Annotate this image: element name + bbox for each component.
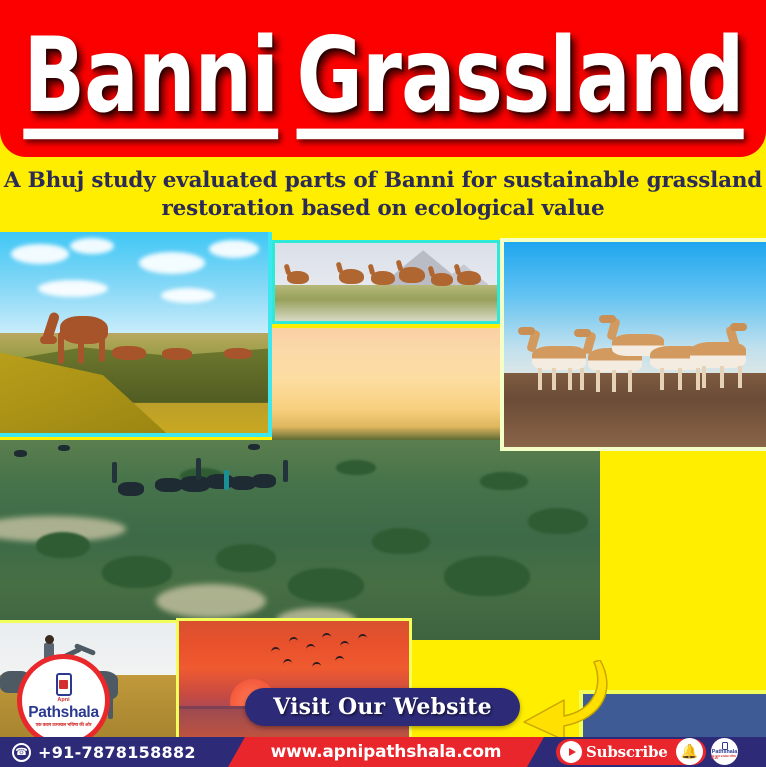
footer-phone-number: +91-7878158882 [38, 743, 196, 762]
youtube-icon [560, 741, 582, 763]
footer-website-block[interactable]: www.apnipathshala.com [228, 737, 544, 767]
logo-brand-name: Pathshala [28, 705, 99, 721]
poster: BanniGrassland A Bhuj study evaluated pa… [0, 0, 766, 767]
visit-website-label: Visit Our Website [273, 694, 492, 720]
subtitle-text: A Bhuj study evaluated parts of Banni fo… [2, 167, 764, 222]
photo-camel-drinking-at-pond [0, 232, 272, 437]
page-title: BanniGrassland [23, 26, 743, 132]
title-word-1: Banni [23, 26, 278, 125]
subtitle-banner: A Bhuj study evaluated parts of Banni fo… [0, 157, 766, 232]
photo-wild-ass-herd [500, 238, 766, 451]
bell-icon[interactable]: 🔔 [676, 738, 703, 765]
footer-logo[interactable]: Pathshala एक कदम उज्जवल भविष्य की ओर [711, 738, 738, 765]
header-banner: BanniGrassland [0, 0, 766, 157]
photo-camels-grazing-in-grass [272, 240, 500, 324]
pointing-arrow-icon [508, 660, 613, 740]
title-word-2: Grassland [296, 26, 743, 125]
footer-phone-block[interactable]: ☎ +91-7878158882 [0, 737, 245, 767]
visit-website-button[interactable]: Visit Our Website [245, 688, 520, 726]
subscribe-label: Subscribe [586, 743, 668, 761]
photo-desert-sky-gradient [272, 328, 500, 440]
phone-book-icon [56, 673, 72, 696]
footer-website-url: www.apnipathshala.com [271, 742, 502, 762]
logo-tagline: एक कदम उज्जवल भविष्य की ओर [36, 723, 92, 728]
photo-collage [0, 232, 766, 767]
phone-icon: ☎ [12, 743, 31, 762]
footer-bar: ☎ +91-7878158882 www.apnipathshala.com S… [0, 737, 766, 767]
photo-wetland-buffalo-herd [0, 440, 600, 640]
footer-logo-tagline: एक कदम उज्जवल भविष्य की ओर [711, 756, 738, 761]
apni-pathshala-logo[interactable]: Apni Pathshala एक कदम उज्जवल भविष्य की ओ… [17, 654, 110, 747]
